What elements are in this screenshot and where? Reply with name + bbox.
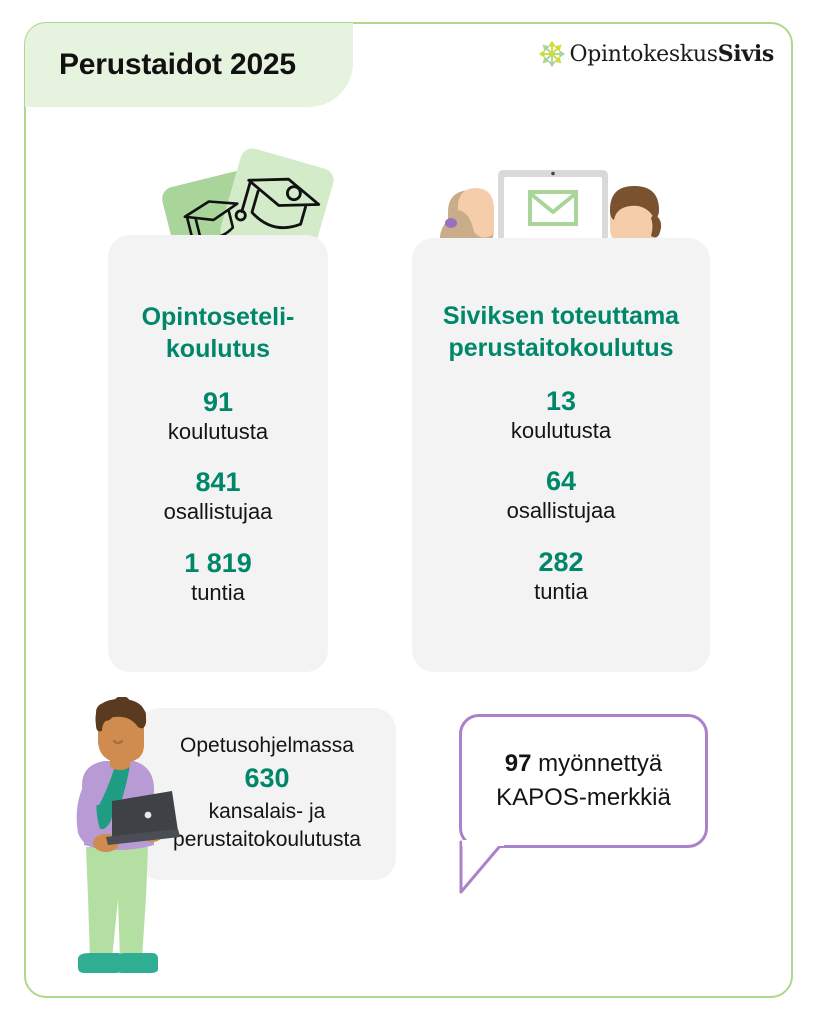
stat-left-3-number: 1 819	[108, 548, 328, 579]
stat-right-3: 282 tuntia	[412, 547, 710, 605]
bubble-text: 97 myönnettyä KAPOS-merkkiä	[482, 747, 685, 815]
stat-right-2: 64 osallistujaa	[412, 466, 710, 524]
stat-right-1: 13 koulutusta	[412, 386, 710, 444]
brand-logo: OpintokeskusSivis	[537, 36, 774, 72]
stat-left-3-label: tuntia	[108, 580, 328, 606]
bubble-text-suffix: myönnettyä	[531, 750, 662, 777]
card-opintoseteli: Opintoseteli- koulutus 91 koulutusta 841…	[108, 235, 328, 672]
card-right-title: Siviksen toteuttama perustaitokoulutus	[412, 300, 710, 364]
infographic-poster: Perustaidot 2025 OpintokeskusSivis	[0, 0, 819, 1024]
stat-right-2-label: osallistujaa	[412, 498, 710, 524]
stat-left-2-number: 841	[108, 467, 328, 498]
person-with-laptop-illustration	[56, 697, 182, 985]
card-left-title-line1: Opintoseteli-	[108, 301, 328, 333]
title-banner: Perustaidot 2025	[25, 23, 353, 107]
card-siviksen-perustaito: Siviksen toteuttama perustaitokoulutus 1…	[412, 238, 710, 672]
speech-bubble-tail	[459, 840, 519, 900]
stat-left-2: 841 osallistujaa	[108, 467, 328, 525]
card-left-title: Opintoseteli- koulutus	[108, 301, 328, 365]
stat-right-2-number: 64	[412, 466, 710, 497]
card-right-title-line1: Siviksen toteuttama	[412, 300, 710, 332]
stat-left-1-number: 91	[108, 387, 328, 418]
stat-left-3: 1 819 tuntia	[108, 548, 328, 606]
logo-text-primary: Opintokeskus	[569, 42, 717, 67]
stat-left-1: 91 koulutusta	[108, 387, 328, 445]
stat-left-1-label: koulutusta	[108, 419, 328, 445]
card-right-title-line2: perustaitokoulutus	[412, 332, 710, 364]
stat-left-2-label: osallistujaa	[108, 499, 328, 525]
kapos-speech-bubble: 97 myönnettyä KAPOS-merkkiä	[459, 714, 708, 848]
sivis-pinwheel-icon	[537, 39, 567, 69]
logo-wordmark: OpintokeskusSivis	[569, 41, 774, 67]
logo-text-bold: Sivis	[718, 41, 774, 67]
bubble-number: 97	[505, 750, 532, 777]
card-left-title-line2: koulutus	[108, 333, 328, 365]
bubble-line2: KAPOS-merkkiä	[496, 784, 671, 811]
stat-right-3-label: tuntia	[412, 579, 710, 605]
page-title: Perustaidot 2025	[59, 48, 296, 82]
stat-right-3-number: 282	[412, 547, 710, 578]
stat-right-1-number: 13	[412, 386, 710, 417]
stat-right-1-label: koulutusta	[412, 418, 710, 444]
